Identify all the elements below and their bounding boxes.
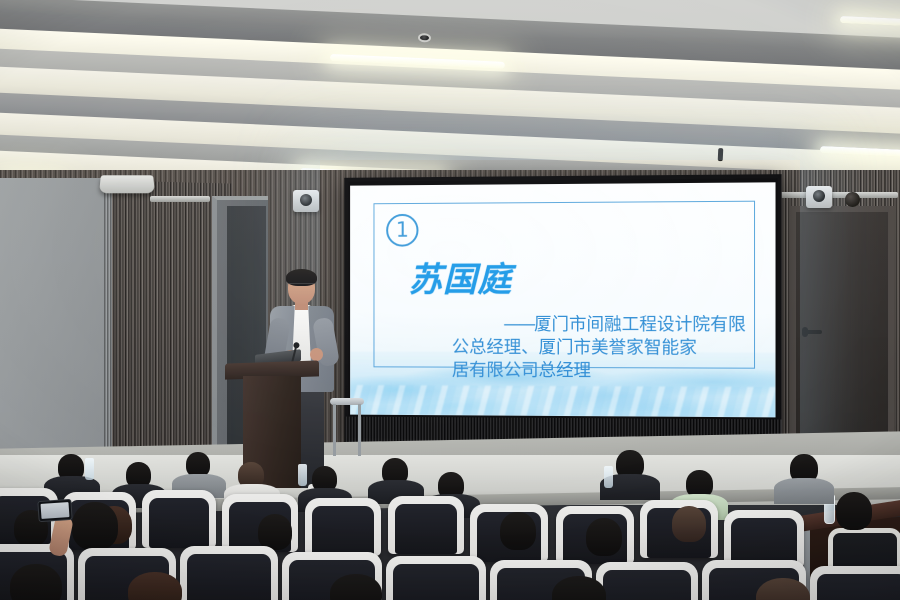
slide-number-badge: 1 — [386, 214, 418, 247]
speaker-title-line-1: ——厦门市间融工程设计院有限 — [452, 314, 753, 337]
conference-hall-photo: 1 苏国庭 ——厦门市间融工程设计院有限 公总经理、厦门市美誉家智能家 居有限公… — [0, 0, 900, 600]
glasses-icon — [289, 283, 314, 289]
water-bottle — [604, 466, 613, 488]
audience-head-phone-user — [72, 502, 118, 550]
audience-head — [500, 512, 536, 550]
left-wall-panel — [0, 178, 112, 478]
ceiling — [0, 0, 900, 190]
audience-head — [672, 506, 706, 542]
seat-cushion — [603, 570, 691, 600]
camera-rail — [780, 192, 898, 198]
audience-area — [0, 448, 900, 600]
ptz-camera-icon — [806, 186, 832, 208]
water-bottle — [85, 458, 94, 480]
presenter-hand-right — [310, 348, 323, 361]
speaker-name-heading: 苏国庭 — [409, 252, 513, 301]
speaker-title-line-3: 居有限公司总经理 — [452, 359, 753, 383]
door-right[interactable] — [790, 206, 894, 448]
slide-em-dash: —— — [503, 315, 534, 335]
audience-head — [586, 518, 622, 556]
audience-seat — [142, 490, 216, 548]
audience-seat-front — [596, 562, 698, 600]
audience-seat — [388, 496, 464, 554]
slide-wave-texture — [350, 385, 775, 417]
audience-seat-front — [386, 556, 486, 600]
seat-cushion — [395, 504, 457, 554]
audience-seat — [305, 498, 381, 556]
door-handle-icon[interactable] — [806, 330, 822, 334]
audience-seat-front — [810, 566, 900, 600]
audience-head-front — [10, 564, 62, 600]
phone-screen — [41, 502, 70, 519]
ceiling-sensor-icon — [718, 148, 724, 161]
projection-screen[interactable]: 1 苏国庭 ——厦门市间融工程设计院有限 公总经理、厦门市美誉家智能家 居有限公… — [344, 174, 781, 446]
audience-shoulders — [774, 478, 834, 504]
seat-cushion — [149, 498, 209, 548]
ceiling-light — [840, 16, 900, 28]
ceiling-speaker-icon — [99, 175, 155, 193]
camera-rail — [150, 196, 210, 202]
speaker-title-text: ——厦门市间融工程设计院有限 公总经理、厦门市美誉家智能家 居有限公司总经理 — [452, 314, 753, 383]
seat-cushion — [187, 554, 271, 600]
audience-seat-front — [180, 546, 278, 600]
presentation-slide: 1 苏国庭 ——厦门市间融工程设计院有限 公总经理、厦门市美誉家智能家 居有限公… — [350, 182, 775, 417]
audience-head — [258, 514, 292, 550]
water-bottle — [298, 464, 307, 486]
speaker-title-line-1-text: 厦门市间融工程设计院有限 — [534, 315, 746, 335]
audience-head — [836, 492, 872, 530]
dome-sensor-icon — [845, 192, 860, 207]
seat-cushion — [393, 564, 479, 600]
ptz-camera-icon — [293, 190, 319, 212]
speaker-title-line-2: 公总经理、厦门市美誉家智能家 — [452, 337, 753, 361]
seat-cushion — [817, 574, 900, 600]
seat-cushion — [312, 506, 374, 556]
attendee-phone — [37, 499, 72, 522]
